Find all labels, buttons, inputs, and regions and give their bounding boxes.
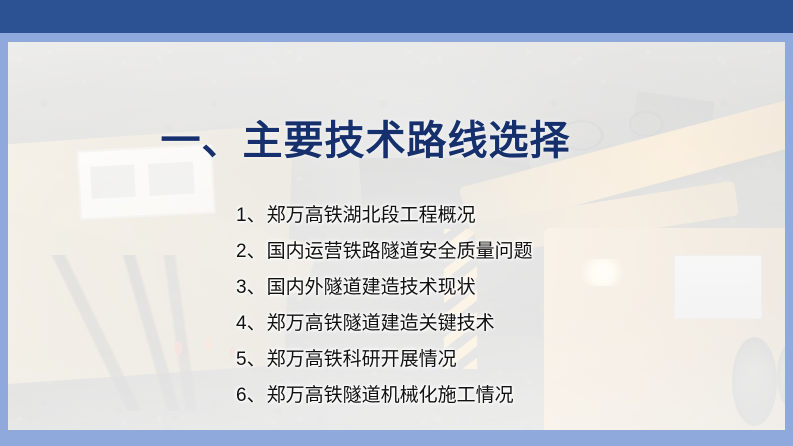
agenda-item: 2、国内运营铁路隧道安全质量问题	[236, 234, 656, 270]
bottom-light-blue-bar	[0, 430, 793, 446]
agenda-item-number: 5、	[236, 349, 266, 370]
agenda-item: 4、郑万高铁隧道建造关键技术	[236, 306, 656, 342]
agenda-item-label: 郑万高铁湖北段工程概况	[267, 205, 476, 226]
agenda-item: 6、郑万高铁隧道机械化施工情况	[236, 378, 656, 414]
agenda-item-label: 国内运营铁路隧道安全质量问题	[267, 241, 533, 262]
agenda-item-label: 国内外隧道建造技术现状	[267, 277, 476, 298]
agenda-item: 3、国内外隧道建造技术现状	[236, 270, 656, 306]
agenda-item-label: 郑万高铁科研开展情况	[267, 349, 457, 370]
slide-title: 一、主要技术路线选择	[8, 121, 723, 161]
agenda-item-label: 郑万高铁隧道机械化施工情况	[267, 385, 514, 406]
agenda-item-label: 郑万高铁隧道建造关键技术	[267, 313, 495, 334]
presentation-slide: 一、主要技术路线选择 1、郑万高铁湖北段工程概况 2、国内运营铁路隧道安全质量问…	[0, 0, 793, 446]
slide-content: 一、主要技术路线选择 1、郑万高铁湖北段工程概况 2、国内运营铁路隧道安全质量问…	[8, 42, 785, 430]
agenda-item-number: 3、	[236, 277, 266, 298]
agenda-item-number: 2、	[236, 241, 266, 262]
agenda-list: 1、郑万高铁湖北段工程概况 2、国内运营铁路隧道安全质量问题 3、国内外隧道建造…	[236, 198, 656, 414]
agenda-item-number: 6、	[236, 385, 266, 406]
agenda-item: 1、郑万高铁湖北段工程概况	[236, 198, 656, 234]
agenda-item: 5、郑万高铁科研开展情况	[236, 342, 656, 378]
left-blue-border	[0, 42, 8, 430]
top-light-blue-band	[0, 33, 793, 42]
top-dark-blue-bar	[0, 0, 793, 33]
agenda-item-number: 4、	[236, 313, 266, 334]
right-blue-border	[785, 42, 793, 430]
agenda-item-number: 1、	[236, 205, 266, 226]
